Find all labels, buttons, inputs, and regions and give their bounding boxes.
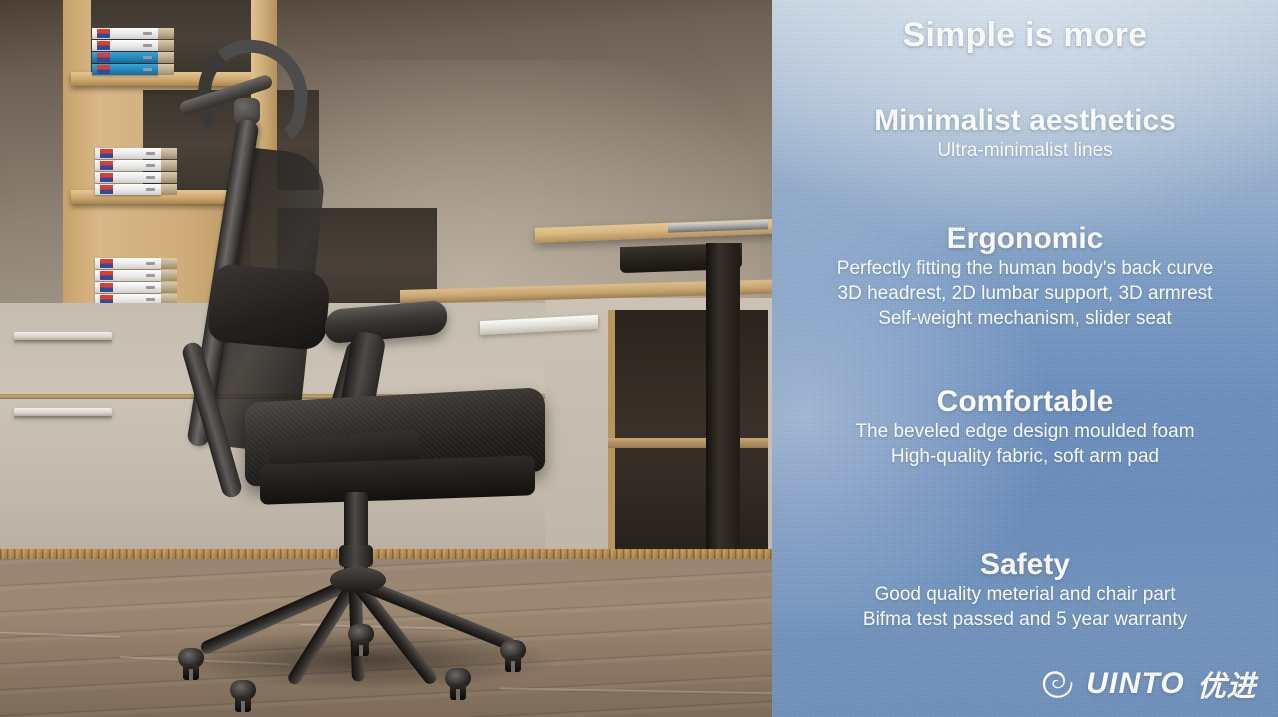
caster-wheel-fork	[505, 656, 521, 672]
binder-label	[100, 173, 113, 182]
binder-label	[97, 41, 110, 50]
drawer-handle	[14, 332, 112, 340]
feature-block-comfortable: Comfortable The beveled edge design moul…	[772, 385, 1278, 469]
caster-wheel	[230, 680, 256, 714]
office-chair	[150, 40, 580, 700]
product-feature-banner: Simple is more Minimalist aesthetics Ult…	[0, 0, 1278, 717]
feature-block-minimalist: Minimalist aesthetics Ultra-minimalist l…	[772, 104, 1278, 163]
feature-line: Bifma test passed and 5 year warranty	[772, 607, 1278, 632]
desk-leg-column	[706, 243, 740, 583]
cylinder-collar	[339, 545, 373, 567]
feature-spec-panel: Simple is more Minimalist aesthetics Ult…	[772, 0, 1278, 717]
feature-line: Good quality meterial and chair part	[772, 582, 1278, 607]
base-hub	[330, 567, 386, 593]
binder	[92, 28, 158, 39]
panel-content: Simple is more Minimalist aesthetics Ult…	[772, 0, 1278, 717]
swirl-logo-icon	[1040, 666, 1077, 703]
chair-armrest-pad	[325, 300, 447, 345]
caster-wheel	[445, 668, 471, 702]
binder-label	[97, 65, 110, 74]
feature-block-ergonomic: Ergonomic Perfectly fitting the human bo…	[772, 222, 1278, 331]
caster-wheel-fork	[450, 684, 466, 700]
feature-line: High-quality fabric, soft arm pad	[772, 444, 1278, 469]
binder-label	[100, 259, 113, 268]
binder-clip	[143, 32, 152, 35]
feature-title-ergonomic: Ergonomic	[772, 222, 1278, 256]
feature-title-minimalist: Minimalist aesthetics	[772, 104, 1278, 138]
feature-title-safety: Safety	[772, 548, 1278, 582]
binder	[92, 52, 158, 63]
caster-wheel-fork	[235, 696, 251, 712]
binder-label	[97, 29, 110, 38]
feature-line: Perfectly fitting the human body's back …	[772, 256, 1278, 281]
feature-line: 3D headrest, 2D lumbar support, 3D armre…	[772, 281, 1278, 306]
seat-underframe	[260, 455, 535, 505]
slogan-heading: Simple is more	[772, 16, 1278, 55]
binder-label	[100, 185, 113, 194]
binder-label	[100, 149, 113, 158]
binder-label	[100, 161, 113, 170]
product-photo	[0, 0, 772, 717]
lumbar-support	[207, 263, 331, 351]
feature-line: Ultra-minimalist lines	[772, 138, 1278, 163]
feature-title-comfortable: Comfortable	[772, 385, 1278, 419]
binder-label	[100, 283, 113, 292]
feature-line: Self-weight mechanism, slider seat	[772, 306, 1278, 331]
caster-wheel-fork	[183, 664, 199, 680]
caster-wheel	[500, 640, 526, 674]
brand-logo: UINTO 优进	[1040, 663, 1256, 705]
binder-label	[100, 271, 113, 280]
brand-wordmark: UINTO	[1086, 667, 1185, 701]
caster-wheel	[178, 648, 204, 682]
feature-block-safety: Safety Good quality meterial and chair p…	[772, 548, 1278, 632]
binder-label	[97, 53, 110, 62]
feature-line: The beveled edge design moulded foam	[772, 419, 1278, 444]
caster-wheel-fork	[353, 640, 369, 656]
binder	[92, 40, 158, 51]
shelf-divider	[608, 438, 768, 448]
binder	[92, 64, 158, 75]
drawer-handle	[14, 408, 112, 416]
caster-wheel	[348, 624, 374, 658]
brand-chinese-name: 优进	[1197, 663, 1256, 705]
binder-stack	[92, 28, 158, 76]
binder-pages	[158, 28, 174, 39]
